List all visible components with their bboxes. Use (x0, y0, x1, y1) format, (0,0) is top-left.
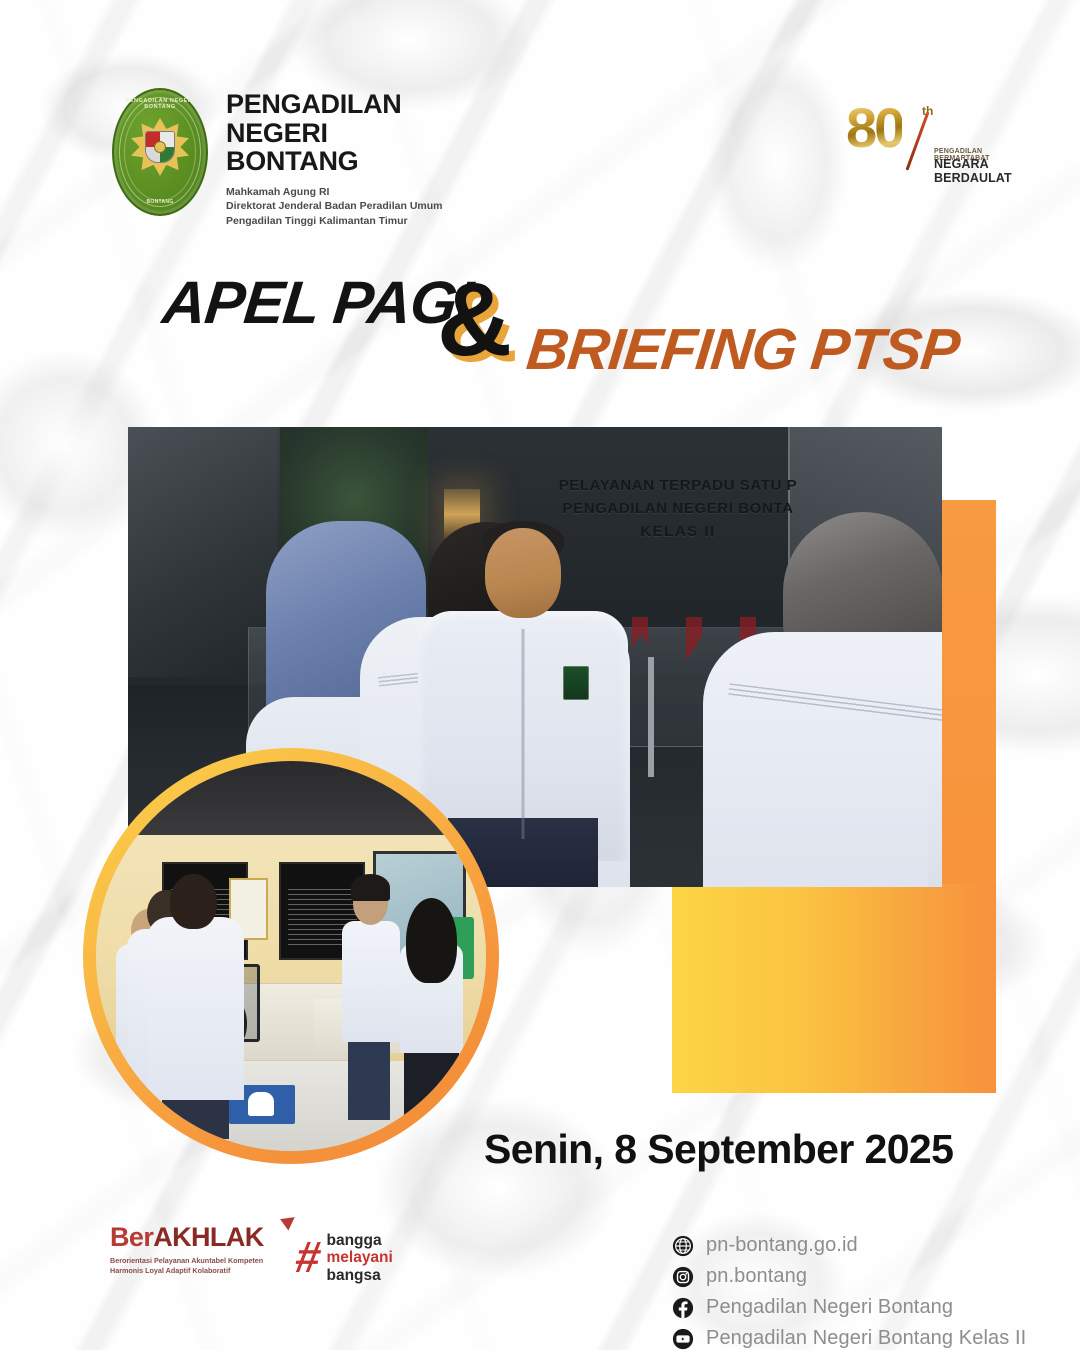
berakhlak-title: BerAKHLAK (110, 1222, 290, 1253)
berakhlak-sub-line-1: Berorientasi Pelayanan Akuntabel Kompete… (110, 1256, 290, 1266)
social-label-instagram: pn.bontang (706, 1265, 807, 1288)
photo-speaker-shirt-placket (521, 629, 524, 839)
wall-sign-line-1: PELAYANAN TERPADU SATU P (513, 477, 843, 494)
berakhlak-title-akhlak: AKHLAK (153, 1222, 263, 1252)
organization-name: PENGADILAN NEGERI BONTANG (226, 90, 443, 176)
anniversary-logo: 80 th PENGADILAN BERMARTABAT NEGARA BERD… (838, 104, 1018, 180)
inset-person-4-body (342, 921, 401, 1042)
seal-bottom-text: BONTANG (112, 199, 208, 205)
org-name-line-2: NEGERI (226, 119, 443, 148)
photo-wall-signage: PELAYANAN TERPADU SATU P PENGADILAN NEGE… (513, 477, 843, 540)
org-sub-line-1: Mahkamah Agung RI (226, 185, 443, 199)
wall-sign-line-2: PENGADILAN NEGERI BONTA (513, 500, 843, 517)
decorative-gradient-block (672, 884, 996, 1093)
facebook-icon (672, 1297, 694, 1319)
berakhlak-title-ber: Ber (110, 1222, 153, 1252)
bangga-line-2: melayani (326, 1249, 392, 1266)
org-name-line-1: PENGADILAN (226, 90, 443, 119)
inset-person-4-trousers (348, 1034, 391, 1120)
social-label-facebook: Pengadilan Negeri Bontang (706, 1296, 953, 1319)
inset-person-3-body (147, 917, 245, 1100)
photo-person-right-body (703, 632, 942, 887)
inset-person-5-skirt (404, 1046, 459, 1124)
org-sub-line-2: Direktorat Jenderal Badan Peradilan Umum (226, 199, 443, 213)
berakhlak-logo: BerAKHLAK Berorientasi Pelayanan Akuntab… (110, 1222, 290, 1277)
seal-top-text: PENGADILAN NEGERI BONTANG (112, 98, 208, 110)
anniversary-tagline-big: NEGARA BERDAULAT (934, 157, 1018, 185)
youtube-icon (672, 1328, 694, 1350)
header-branding: PENGADILAN NEGERI BONTANG BONTANG PENGAD… (112, 88, 443, 228)
social-row-youtube[interactable]: Pengadilan Negeri Bontang Kelas II (672, 1327, 1026, 1350)
hashtag-icon: # (293, 1238, 324, 1278)
title-part-apel-pagi: APEL PAGI (159, 268, 475, 337)
header-text-group: PENGADILAN NEGERI BONTANG Mahkamah Agung… (226, 88, 443, 228)
inset-person-5-hair (406, 898, 457, 984)
bangga-line-3: bangsa (326, 1267, 392, 1284)
photo-speaker-head (485, 528, 561, 618)
seal-shield-center (154, 141, 166, 153)
berakhlak-sub-line-2: Harmonis Loyal Adaptif Kolaboratif (110, 1266, 290, 1276)
social-row-website[interactable]: pn-bontang.go.id (672, 1234, 1026, 1257)
photo-person-far-right-body (928, 727, 942, 887)
bangga-line-1: bangga (326, 1232, 392, 1249)
bangga-melayani-bangsa-logo: # bangga melayani bangsa (296, 1232, 393, 1284)
globe-icon (672, 1235, 694, 1257)
social-label-youtube: Pengadilan Negeri Bontang Kelas II (706, 1327, 1026, 1350)
instagram-icon (672, 1266, 694, 1288)
court-seal-logo-icon: PENGADILAN NEGERI BONTANG BONTANG (112, 88, 208, 216)
org-sub-line-3: Pengadilan Tinggi Kalimantan Timur (226, 214, 443, 228)
bangga-text-group: bangga melayani bangsa (326, 1232, 392, 1284)
inset-photo-briefing-ptsp (83, 748, 499, 1164)
title-part-briefing-ptsp: BRIEFING PTSP (523, 316, 962, 383)
org-name-line-3: BONTANG (226, 147, 443, 176)
social-label-website: pn-bontang.go.id (706, 1234, 858, 1257)
inset-person-3-head (170, 874, 217, 929)
seal-shield-icon (145, 131, 175, 163)
title-ampersand: & (437, 268, 512, 372)
poster-canvas: PENGADILAN NEGERI BONTANG BONTANG PENGAD… (0, 0, 1080, 1350)
anniversary-number: 80 (846, 100, 902, 156)
poster-title: APEL PAGI & & BRIEFING PTSP (0, 268, 1080, 398)
photo-speaker-id-badge (563, 666, 589, 700)
inset-person-4-hair (351, 874, 390, 901)
berakhlak-subtitle: Berorientasi Pelayanan Akuntabel Kompete… (110, 1256, 290, 1277)
social-row-facebook[interactable]: Pengadilan Negeri Bontang (672, 1296, 1026, 1319)
anniversary-slash-icon (905, 111, 929, 170)
social-row-instagram[interactable]: pn.bontang (672, 1265, 1026, 1288)
inset-ceiling (96, 761, 486, 835)
organization-subtitle: Mahkamah Agung RI Direktorat Jenderal Ba… (226, 185, 443, 228)
social-media-list: pn-bontang.go.id pn.bontang Pengadilan N… (672, 1234, 1026, 1350)
inset-photo-content (96, 761, 486, 1151)
event-date: Senin, 8 September 2025 (484, 1126, 953, 1173)
